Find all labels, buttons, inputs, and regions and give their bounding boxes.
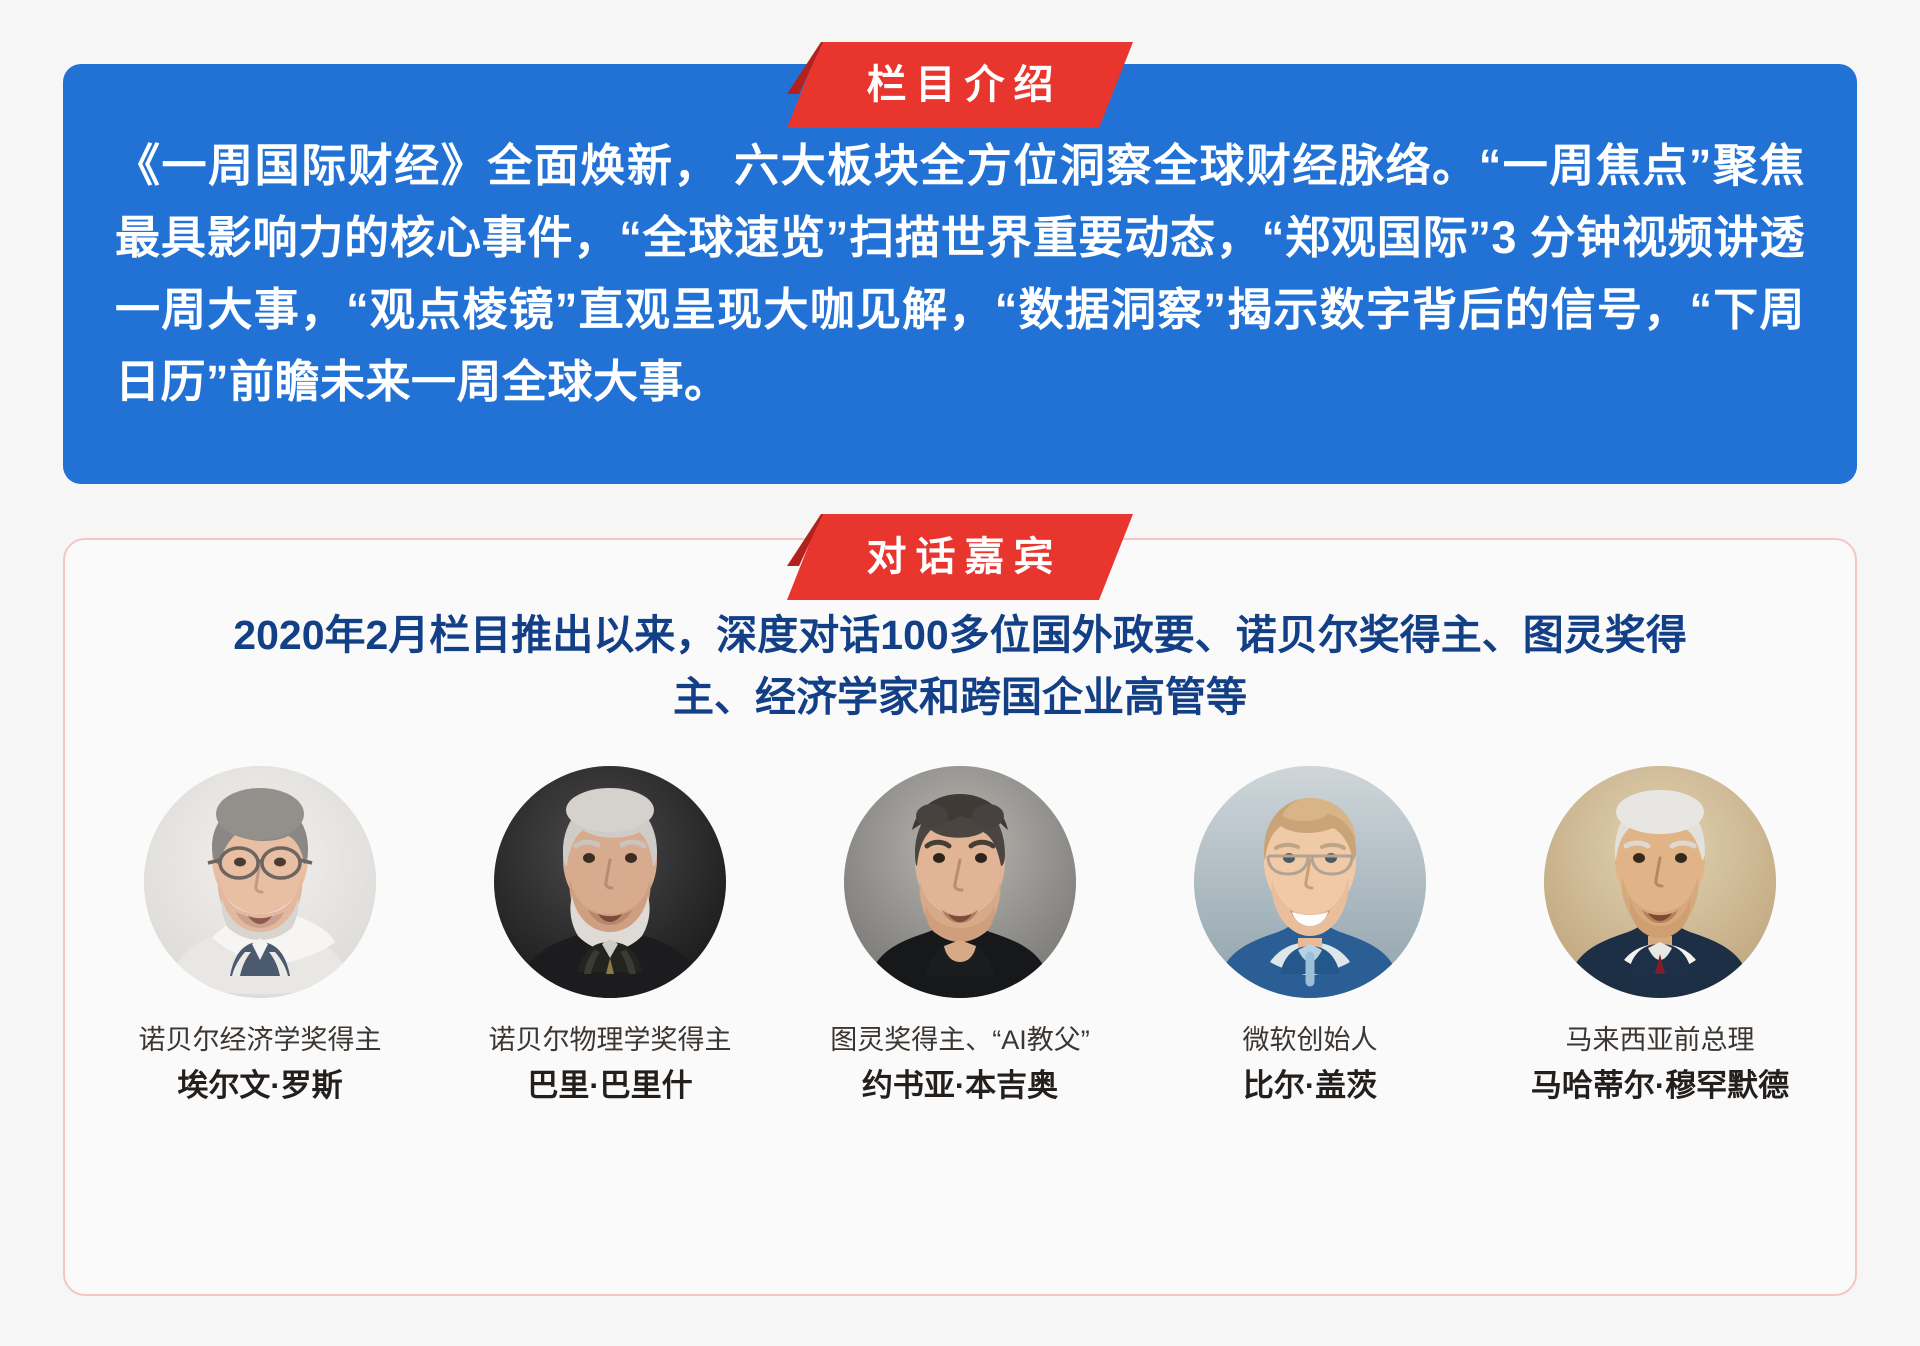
avatar xyxy=(494,766,726,998)
portrait-mahathir-mohamad-icon xyxy=(1544,766,1776,998)
guest-name: 比尔·盖茨 xyxy=(1243,1066,1377,1106)
guest-role: 诺贝尔物理学奖得主 xyxy=(489,1022,732,1058)
guest-name: 约书亚·本吉奥 xyxy=(862,1066,1058,1106)
guest-portrait-row: 诺贝尔经济学奖得主 埃尔文·罗斯 xyxy=(65,766,1855,1106)
guest-card-item[interactable]: 诺贝尔经济学奖得主 埃尔文·罗斯 xyxy=(115,766,405,1106)
guest-card-item[interactable]: 诺贝尔物理学奖得主 巴里·巴里什 xyxy=(465,766,755,1106)
guest-role: 图灵奖得主、“AI教父” xyxy=(830,1022,1090,1058)
portrait-alvin-roth-icon xyxy=(144,766,376,998)
avatar xyxy=(844,766,1076,998)
program-intro-ribbon-label: 栏目介绍 xyxy=(858,42,1063,128)
avatar xyxy=(1194,766,1426,998)
guest-name: 马哈蒂尔·穆罕默德 xyxy=(1531,1066,1789,1106)
dialogue-guests-card: 2020年2月栏目推出以来，深度对话100多位国外政要、诺贝尔奖得主、图灵奖得主… xyxy=(63,538,1857,1296)
dialogue-guests-subtitle: 2020年2月栏目推出以来，深度对话100多位国外政要、诺贝尔奖得主、图灵奖得主… xyxy=(65,604,1855,728)
program-intro-text: 《一周国际财经》全面焕新， 六大板块全方位洞察全球财经脉络。“一周焦点”聚焦最具… xyxy=(115,130,1805,418)
dialogue-guests-ribbon-label: 对话嘉宾 xyxy=(858,514,1063,600)
guest-name: 巴里·巴里什 xyxy=(527,1066,692,1106)
portrait-bill-gates-icon xyxy=(1194,766,1426,998)
guest-card-item[interactable]: 马来西亚前总理 马哈蒂尔·穆罕默德 xyxy=(1515,766,1805,1106)
portrait-yoshua-bengio-icon xyxy=(844,766,1076,998)
avatar xyxy=(1544,766,1776,998)
portrait-barry-barish-icon xyxy=(494,766,726,998)
guest-role: 马来西亚前总理 xyxy=(1566,1022,1755,1058)
guest-role: 微软创始人 xyxy=(1243,1022,1378,1058)
guest-name: 埃尔文·罗斯 xyxy=(177,1066,342,1106)
guest-card-item[interactable]: 微软创始人 比尔·盖茨 xyxy=(1165,766,1455,1106)
avatar xyxy=(144,766,376,998)
guest-card-item[interactable]: 图灵奖得主、“AI教父” 约书亚·本吉奥 xyxy=(815,766,1105,1106)
guest-role: 诺贝尔经济学奖得主 xyxy=(139,1022,382,1058)
